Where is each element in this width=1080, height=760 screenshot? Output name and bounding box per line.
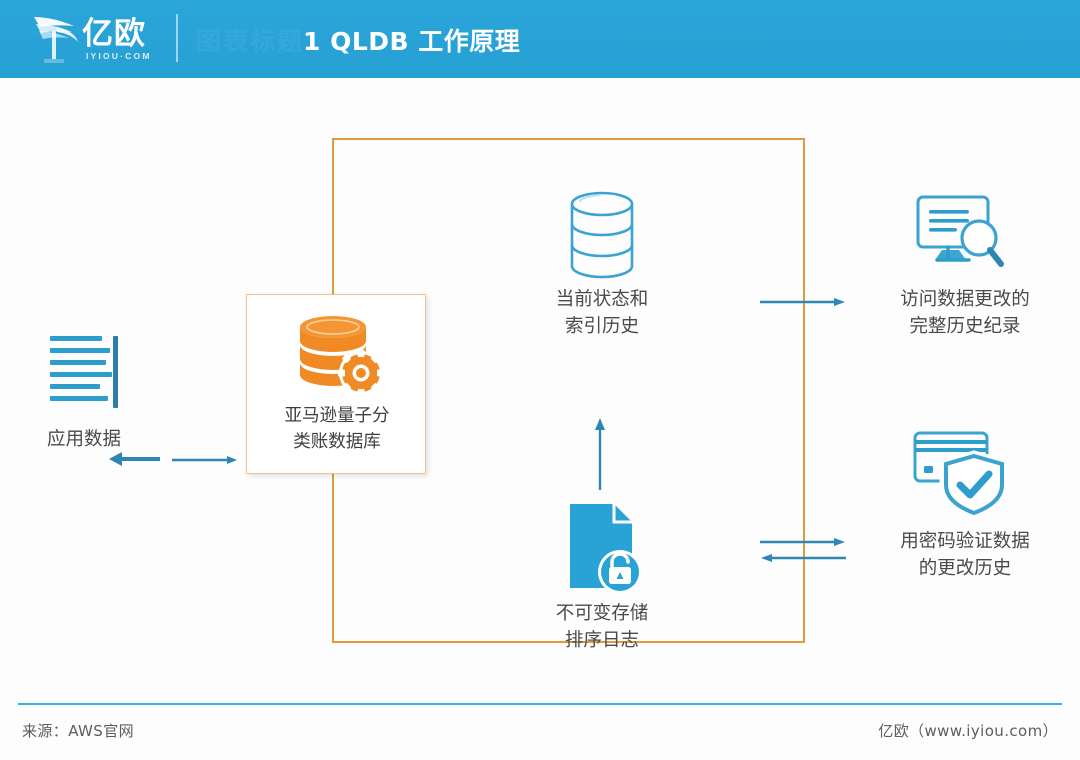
document-lock-icon: [566, 502, 640, 594]
access-history-label: 访问数据更改的 完整历史纪录: [850, 286, 1080, 340]
verify-history-label-line1: 用密码验证数据: [850, 528, 1080, 555]
page-title: 1 QLDB 工作原理: [303, 22, 520, 58]
qldb-node-label-line1: 亚马逊量子分: [247, 403, 427, 429]
bird-feather-logo-icon: [30, 11, 82, 65]
qldb-node-box[interactable]: 亚马逊量子分 类账数据库: [246, 294, 426, 474]
logo-text-en: IYIOU·COM: [86, 51, 152, 61]
footer-divider: [18, 703, 1062, 705]
diagram-canvas: 应用数据: [0, 78, 1080, 688]
access-history-label-line2: 完整历史纪录: [850, 313, 1080, 340]
arrow-verify-to-log-icon: [760, 552, 846, 564]
arrow-log-to-state-icon: [590, 418, 610, 490]
current-state-label-line2: 索引历史: [492, 313, 712, 340]
header-ghost-text: 图表标题: [196, 22, 304, 58]
monitor-search-icon: [915, 194, 1007, 278]
slide-page: 亿欧 IYIOU·COM 图表标题 1 QLDB 工作原理 应用数据: [0, 0, 1080, 760]
arrow-log-to-verify-icon: [760, 536, 846, 548]
brand-logo[interactable]: 亿欧 IYIOU·COM: [28, 9, 168, 69]
arrow-into-appdata-icon: [108, 448, 162, 470]
immutable-log-label: 不可变存储 排序日志: [492, 600, 712, 654]
app-data-icon: [50, 336, 118, 408]
footer-source: 来源：AWS官网: [22, 720, 134, 741]
qldb-node-label-line2: 类账数据库: [247, 429, 427, 455]
footer-brand: 亿欧（www.iyiou.com）: [878, 720, 1058, 741]
database-outline-icon: [566, 191, 638, 279]
immutable-log-label-line2: 排序日志: [492, 627, 712, 654]
current-state-label-line1: 当前状态和: [492, 286, 712, 313]
arrow-state-to-access-icon: [760, 296, 846, 308]
access-history-label-line1: 访问数据更改的: [850, 286, 1080, 313]
logo-text-cn: 亿欧: [82, 17, 146, 51]
arrow-appdata-to-qldb-icon: [172, 454, 238, 466]
verify-history-label-line2: 的更改历史: [850, 555, 1080, 582]
header-divider: [176, 14, 178, 62]
database-gear-icon: [293, 315, 385, 397]
header-bar: 亿欧 IYIOU·COM 图表标题 1 QLDB 工作原理: [0, 0, 1080, 78]
current-state-label: 当前状态和 索引历史: [492, 286, 712, 340]
qldb-node-label: 亚马逊量子分 类账数据库: [247, 403, 427, 455]
verify-history-label: 用密码验证数据 的更改历史: [850, 528, 1080, 582]
immutable-log-label-line1: 不可变存储: [492, 600, 712, 627]
card-shield-check-icon: [912, 430, 1008, 518]
